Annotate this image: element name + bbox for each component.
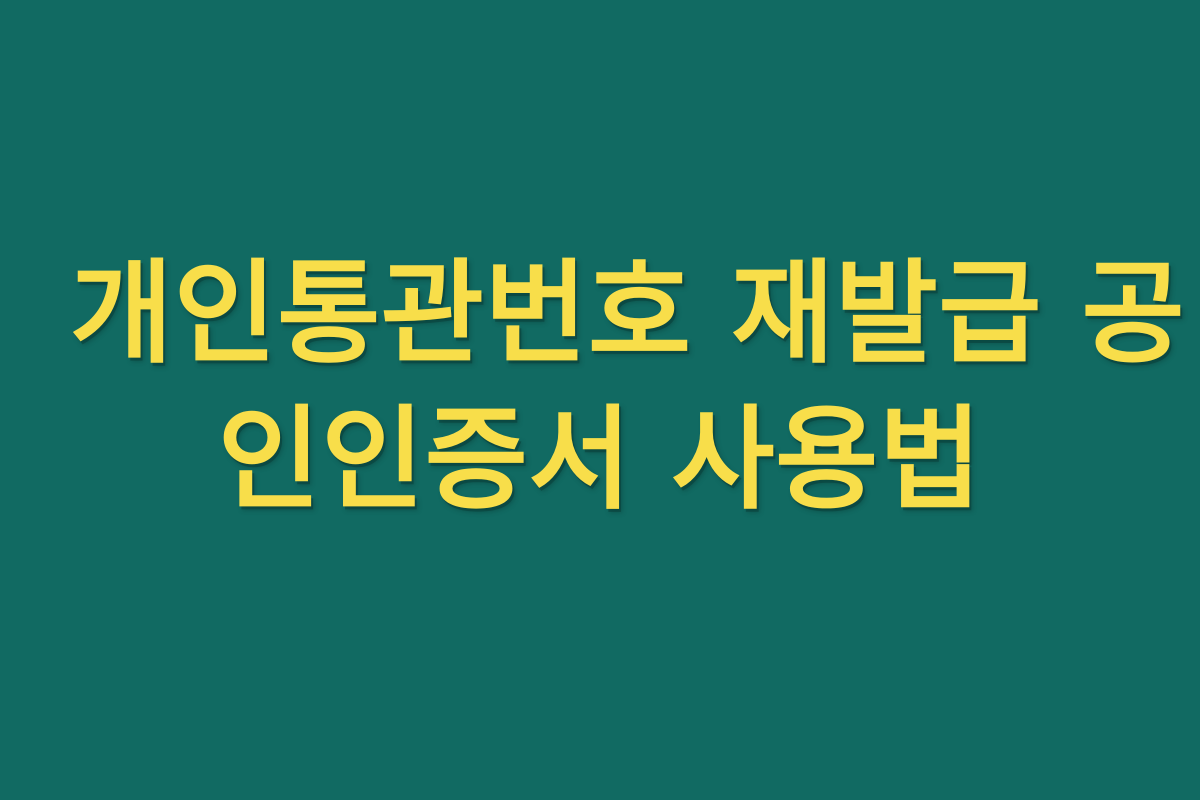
- banner-canvas: 개인통관번호 재발급 공 인인증서 사용법: [0, 0, 1200, 800]
- banner-title-line-2: 인인증서 사용법: [70, 388, 1130, 534]
- banner-title-line-1: 개인통관번호 재발급 공: [70, 242, 1130, 388]
- banner-title-block: 개인통관번호 재발급 공 인인증서 사용법: [70, 242, 1130, 533]
